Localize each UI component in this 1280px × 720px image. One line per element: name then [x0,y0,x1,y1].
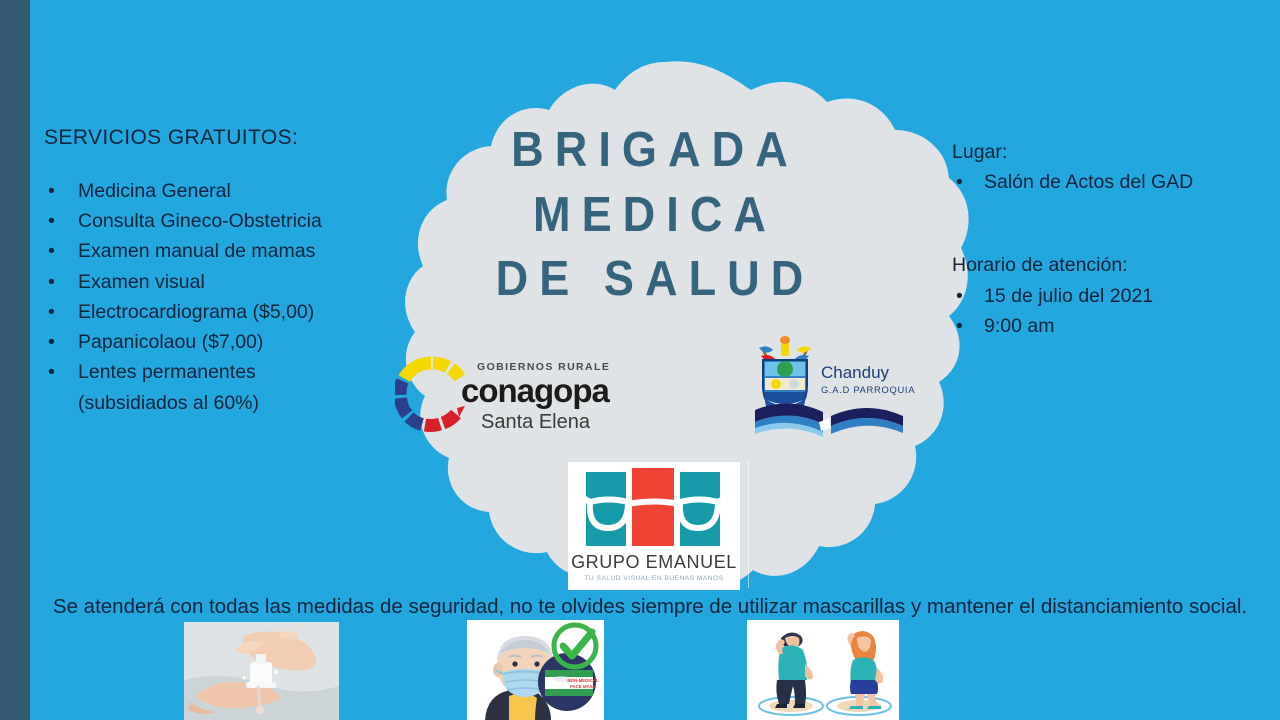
list-item-label: Examen manual de mamas [78,240,315,262]
list-item: • Salón de Actos del GAD [952,167,1272,197]
list-item: • 15 de julio del 2021 [952,281,1272,311]
list-item: • Lentes permanentes [44,357,384,387]
emanuel-title: GRUPO EMANUEL [571,552,737,572]
list-item: • Papanicolaou ($7,00) [44,327,384,357]
bullet-icon: • [956,281,963,311]
conagopare-region: Santa Elena [481,411,591,433]
bullet-icon: • [956,311,963,341]
poster-canvas: BRIGADA MEDICA DE SALUD SERVICIOS GRATUI… [0,0,1280,720]
list-item-label: (subsidiados al 60%) [78,392,259,414]
services-heading: SERVICIOS GRATUITOS: [44,126,384,150]
conagopare-wordmark: conagopare [461,372,610,409]
schedule-label: Horario de atención: [952,251,1272,280]
free-services-list: • Medicina General • Consulta Gineco-Obs… [44,176,384,297]
bullet-icon: • [48,236,55,266]
emanuel-tagline: TU SALUD VISUAL EN BUENAS MANOS [584,575,723,582]
left-edge-bar [0,0,30,720]
chanduy-subtitle: G.A.D PARROQUIAL [821,384,915,395]
place-list: • Salón de Actos del GAD [952,167,1272,197]
bullet-icon: • [48,176,55,206]
list-item: • Examen manual de mamas [44,236,384,266]
safety-message: Se atenderá con todas las medidas de seg… [40,592,1260,621]
bullet-icon: • [48,206,55,236]
schedule-list: • 15 de julio del 2021 • 9:00 am [952,281,1272,341]
list-item-label: 9:00 am [984,315,1054,337]
list-item-label: Examen visual [78,271,205,293]
list-item: • Examen visual [44,267,384,297]
event-info-section: Lugar: • Salón de Actos del GAD Horario … [952,138,1272,341]
chanduy-title: Chanduy [821,363,890,382]
info-spacer [952,197,1272,251]
chanduy-gad-logo: Chanduy G.A.D PARROQUIAL [745,336,915,444]
list-item-label: Consulta Gineco-Obstetricia [78,210,322,232]
mask-label-line2: FACE MASK [570,684,597,689]
services-section: SERVICIOS GRATUITOS: • Medicina General … [44,126,384,418]
mask-label-line1: NON-MEDICAL [567,678,599,683]
list-item-label: Medicina General [78,180,231,202]
list-item-label: Papanicolaou ($7,00) [78,331,263,353]
list-item-label: Electrocardiograma ($5,00) [78,301,314,323]
bullet-icon: • [48,267,55,297]
list-item-label: Lentes permanentes [78,361,256,383]
social-distancing-illustration [747,620,899,720]
poster-title: BRIGADA MEDICA DE SALUD [440,118,870,312]
list-item-label: 15 de julio del 2021 [984,285,1153,307]
title-line-3: DE SALUD [457,247,853,312]
grupo-emanuel-logo: GRUPO EMANUEL TU SALUD VISUAL EN BUENAS … [568,462,740,590]
list-item: • Electrocardiograma ($5,00) [44,297,384,327]
bullet-icon: • [48,327,55,357]
paid-services-list: • Electrocardiograma ($5,00) • Papanicol… [44,297,384,418]
list-item: • Consulta Gineco-Obstetricia [44,206,384,236]
ribbon-wave-icon [755,403,903,437]
title-line-2: MEDICA [457,183,853,248]
list-item: • Medicina General [44,176,384,206]
list-item-note: (subsidiados al 60%) [44,388,384,418]
bullet-icon: • [48,357,55,387]
face-mask-illustration: NON-MEDICAL FACE MASK [467,620,604,720]
list-item: • 9:00 am [952,311,1272,341]
conagopare-logo: GOBIERNOS RURALES conagopare Santa Elena [395,348,610,440]
bullet-icon: • [48,297,55,327]
title-line-1: BRIGADA [457,118,853,183]
bullet-icon: • [956,167,963,197]
place-label: Lugar: [952,138,1272,167]
hand-sanitizer-photo [184,622,339,720]
list-item-label: Salón de Actos del GAD [984,171,1193,193]
emanuel-divider [748,460,749,588]
